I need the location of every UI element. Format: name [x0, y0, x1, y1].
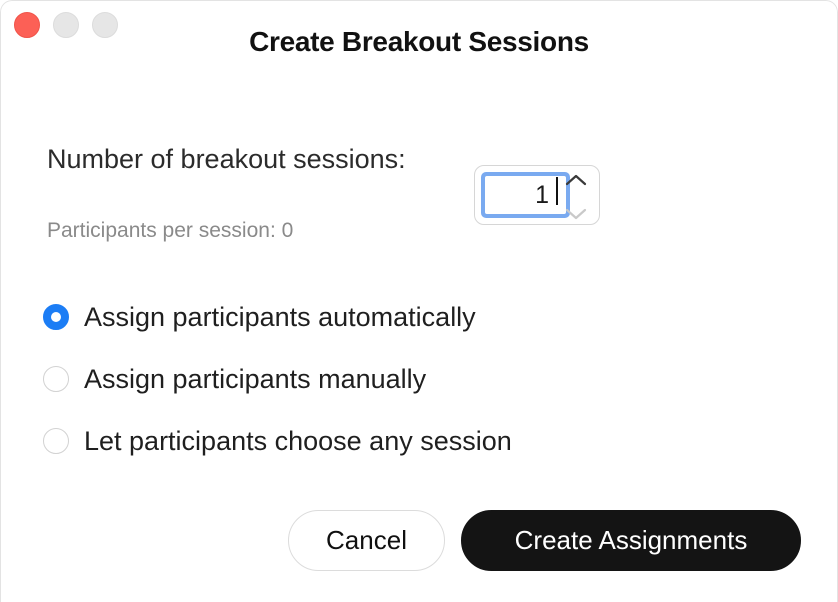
title-bar: Create Breakout Sessions: [0, 0, 838, 88]
sessions-count-row: Number of breakout sessions: 1: [47, 126, 807, 198]
stepper-arrows: [561, 173, 591, 219]
cancel-button[interactable]: Cancel: [288, 510, 445, 571]
sessions-count-label: Number of breakout sessions:: [47, 144, 406, 175]
radio-option-label: Assign participants manually: [84, 364, 426, 395]
radio-unselected-icon[interactable]: [43, 366, 69, 392]
radio-selected-icon[interactable]: [43, 304, 69, 330]
sessions-count-input[interactable]: 1: [485, 176, 566, 214]
radio-option-automatic[interactable]: Assign participants automatically: [43, 286, 803, 348]
text-caret: [556, 177, 558, 205]
sessions-count-stepper[interactable]: 1: [474, 165, 600, 225]
assignment-options-group: Assign participants automatically Assign…: [43, 286, 803, 472]
participants-per-session-text: Participants per session: 0: [47, 219, 293, 243]
sessions-count-focus-ring: 1: [481, 172, 570, 218]
create-assignments-button[interactable]: Create Assignments: [461, 510, 801, 571]
dialog-title: Create Breakout Sessions: [0, 26, 838, 58]
dialog-footer: Cancel Create Assignments: [0, 510, 838, 590]
create-breakout-sessions-dialog: Create Breakout Sessions Number of break…: [0, 0, 838, 602]
radio-option-label: Let participants choose any session: [84, 426, 512, 457]
radio-option-label: Assign participants automatically: [84, 302, 476, 333]
chevron-up-icon[interactable]: [565, 173, 587, 185]
radio-unselected-icon[interactable]: [43, 428, 69, 454]
chevron-down-icon[interactable]: [565, 207, 587, 219]
radio-option-manual[interactable]: Assign participants manually: [43, 348, 803, 410]
radio-option-choose-any[interactable]: Let participants choose any session: [43, 410, 803, 472]
